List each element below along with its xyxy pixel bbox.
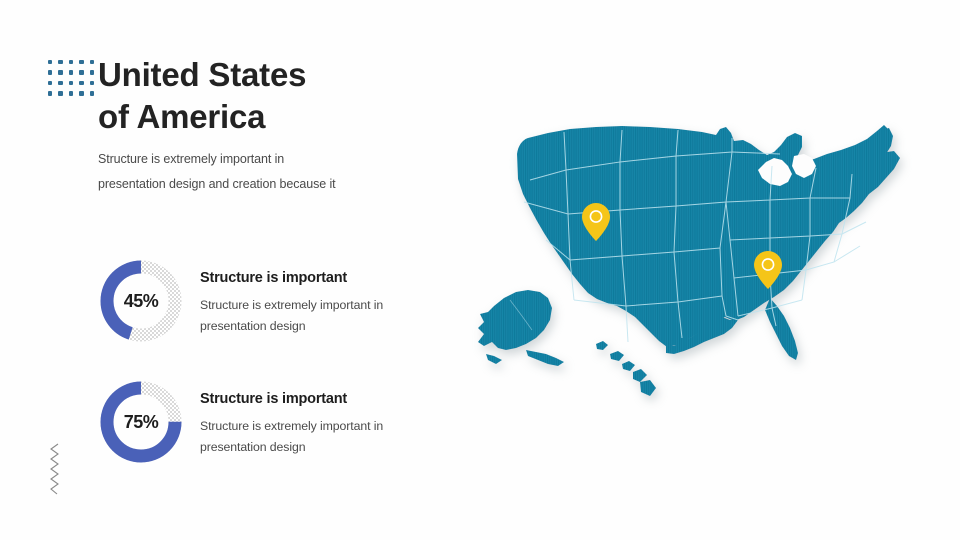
- stat-item: 75% Structure is important Structure is …: [98, 379, 478, 465]
- donut-percent-label: 75%: [98, 379, 184, 465]
- map-hawaii: [596, 341, 656, 396]
- united-states-map: [470, 110, 940, 410]
- zigzag-decoration: [44, 442, 70, 503]
- title-line-2: of America: [98, 96, 498, 138]
- stat-description: Structure is extremely important in pres…: [200, 416, 480, 458]
- stat-description: Structure is extremely important in pres…: [200, 295, 480, 337]
- stat-desc-line-1: Structure is extremely important in: [200, 416, 480, 437]
- donut-percent-label: 45%: [98, 258, 184, 344]
- stat-title: Structure is important: [200, 391, 480, 407]
- stat-text-block: Structure is important Structure is extr…: [200, 391, 480, 458]
- map-landmass: [517, 125, 900, 360]
- subtitle-line-2: presentation design and creation because…: [98, 172, 458, 197]
- map-alaska: [478, 290, 552, 350]
- stat-text-block: Structure is important Structure is extr…: [200, 270, 480, 337]
- page-subtitle: Structure is extremely important in pres…: [98, 147, 458, 197]
- dot-grid-decoration: [48, 60, 100, 102]
- map-pin-south[interactable]: [753, 250, 783, 290]
- subtitle-line-1: Structure is extremely important in: [98, 147, 458, 172]
- stat-title: Structure is important: [200, 270, 480, 286]
- donut-chart-75: 75%: [98, 379, 184, 465]
- stat-desc-line-2: presentation design: [200, 316, 480, 337]
- stat-item: 45% Structure is important Structure is …: [98, 258, 478, 344]
- stat-desc-line-1: Structure is extremely important in: [200, 295, 480, 316]
- title-line-1: United States: [98, 54, 498, 96]
- stat-desc-line-2: presentation design: [200, 437, 480, 458]
- map-pin-west[interactable]: [581, 202, 611, 242]
- page-title: United States of America: [98, 54, 498, 138]
- slide-canvas: United States of America Structure is ex…: [0, 0, 960, 540]
- donut-chart-45: 45%: [98, 258, 184, 344]
